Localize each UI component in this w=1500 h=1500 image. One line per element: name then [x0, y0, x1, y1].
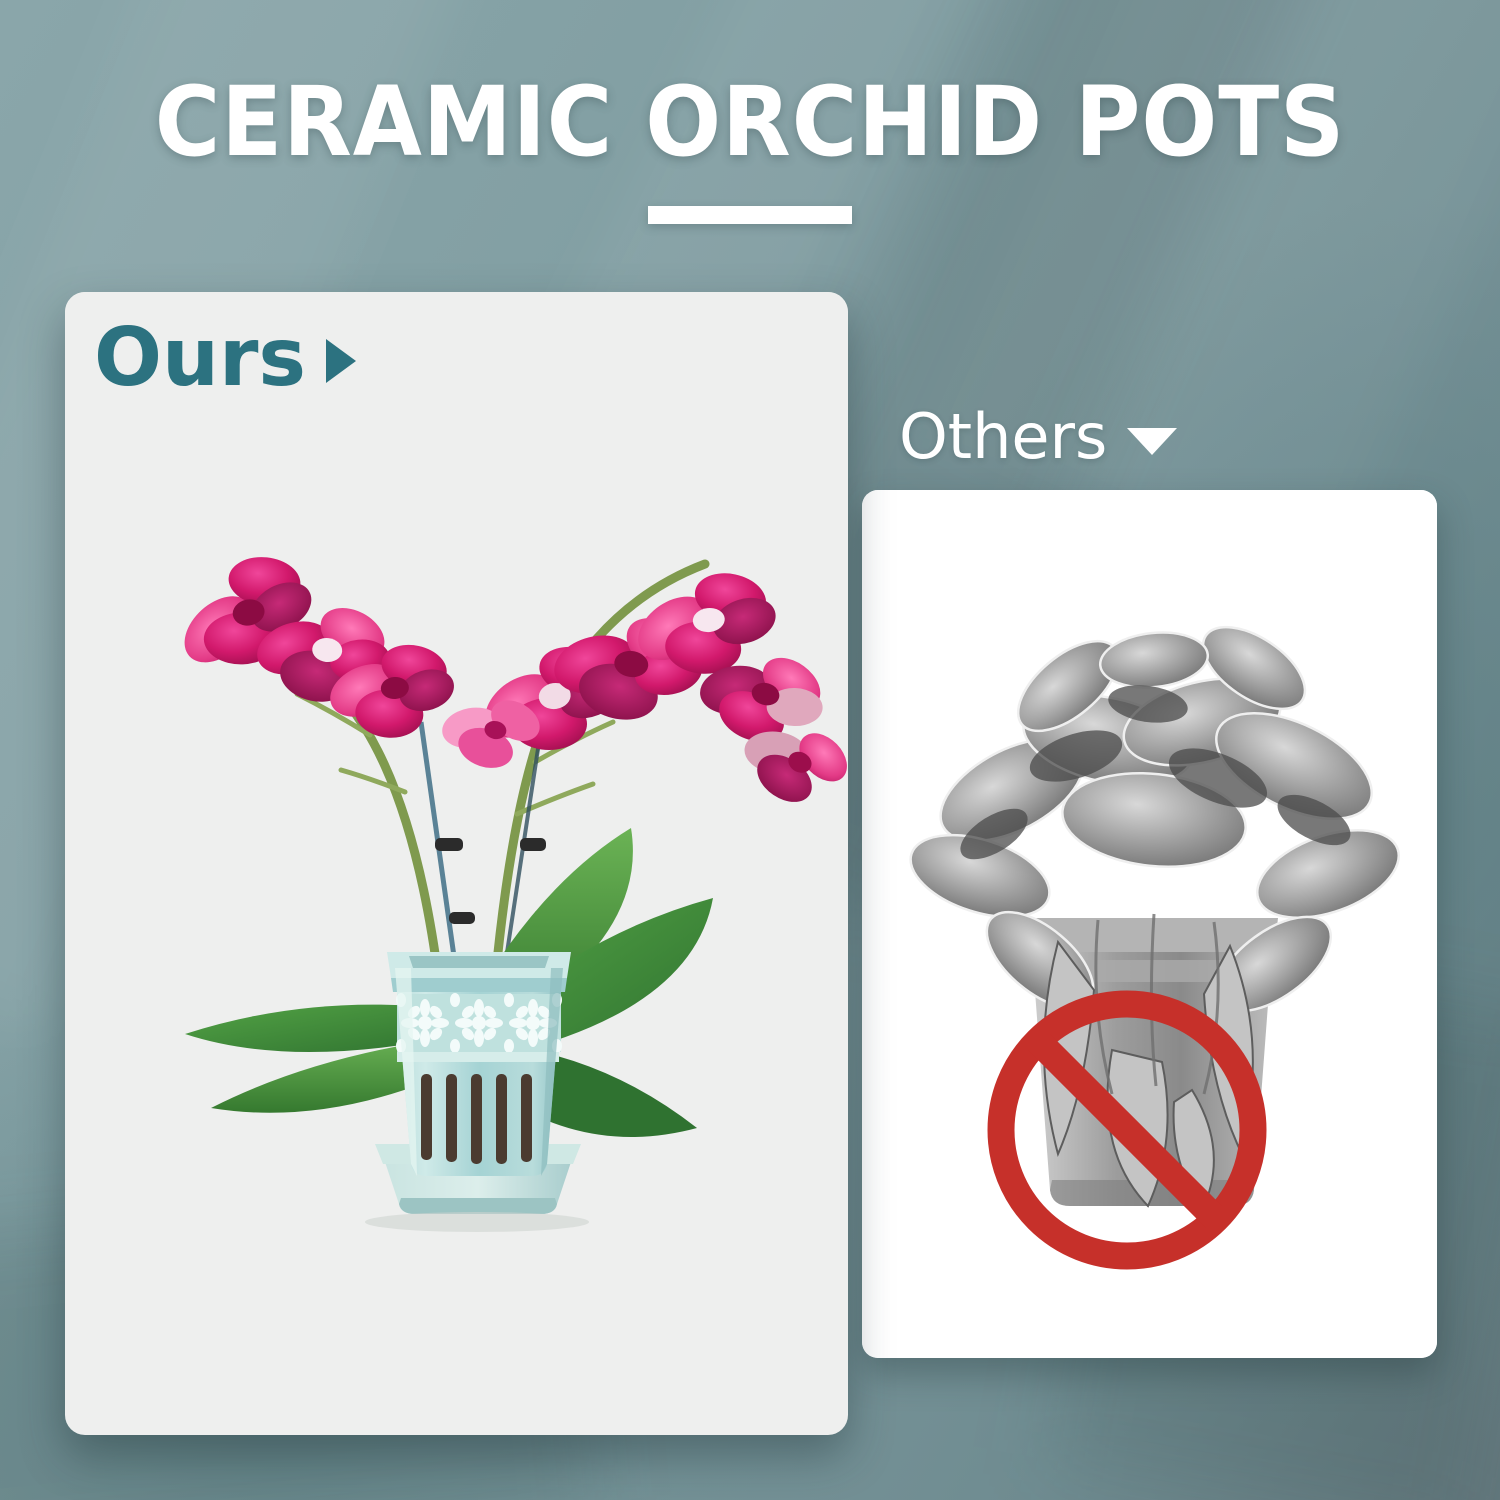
others-product-image [862, 490, 1437, 1358]
ours-product-image [65, 292, 848, 1292]
ours-label: Ours [94, 318, 306, 398]
others-label-group: Others [899, 406, 1177, 468]
triangle-down-icon [1127, 428, 1177, 455]
page-title: CERAMIC ORCHID POTS [53, 74, 1448, 170]
ours-label-group: Ours [94, 318, 356, 398]
others-card [862, 490, 1437, 1358]
ours-card: Crackle glaze Handcrafted Drainage hole … [65, 292, 848, 1435]
triangle-right-icon [326, 339, 356, 383]
others-label: Others [899, 406, 1107, 468]
title-underline [648, 206, 852, 224]
promo-banner: CERAMIC ORCHID POTS [0, 0, 1500, 1500]
